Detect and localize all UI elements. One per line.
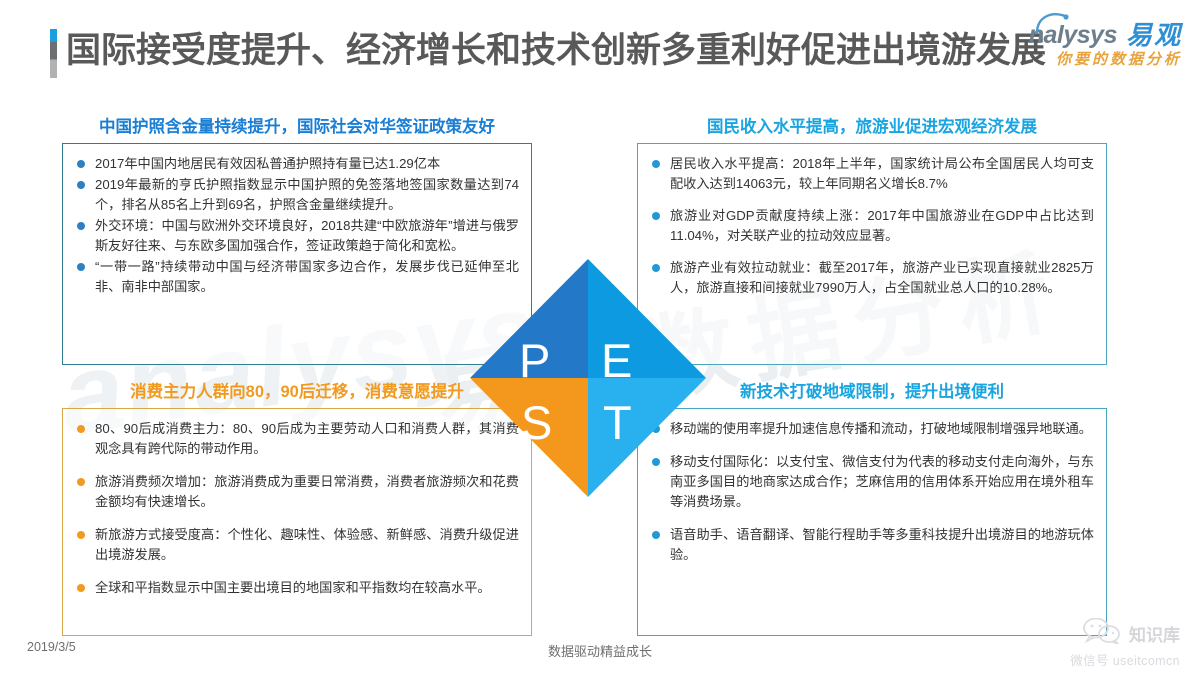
quadrant-political-heading: 中国护照含金量持续提升，国际社会对华签证政策友好 — [62, 113, 532, 137]
list-item: 外交环境：中国与欧洲外交环境良好，2018共建“中欧旅游年”增进与俄罗斯友好往来… — [73, 216, 519, 256]
economic-bullet-list: 居民收入水平提高：2018年上半年，国家统计局公布全国居民人均可支配收入达到14… — [648, 154, 1094, 298]
quadrant-technological-heading: 新技术打破地域限制，提升出境便利 — [637, 378, 1107, 402]
list-item: 居民收入水平提高：2018年上半年，国家统计局公布全国居民人均可支配收入达到14… — [648, 154, 1094, 194]
pest-diamond: P E S T — [470, 259, 706, 497]
quadrant-social-heading: 消费主力人群向80，90后迁移，消费意愿提升 — [62, 378, 532, 402]
quadrant-technological-body: 移动端的使用率提升加速信息传播和流动，打破地域限制增强异地联通。 移动支付国际化… — [637, 408, 1107, 636]
list-item: 移动端的使用率提升加速信息传播和流动，打破地域限制增强异地联通。 — [648, 419, 1094, 439]
logo-chinese-text: 易观 — [1126, 22, 1182, 48]
pest-letter-p: P — [519, 337, 550, 384]
list-item: 2017年中国内地居民有效因私普通护照持有量已达1.29亿本 — [73, 154, 519, 174]
list-item: 旅游消费频次增加：旅游消费成为重要日常消费，消费者旅游频次和花费金额均有快速增长… — [73, 472, 519, 512]
social-bullet-list: 80、90后成消费主力：80、90后成为主要劳动人口和消费人群，其消费观念具有跨… — [73, 419, 519, 598]
page-title: 国际接受度提升、经济增长和技术创新多重利好促进出境游发展 — [66, 22, 1046, 73]
political-bullet-list: 2017年中国内地居民有效因私普通护照持有量已达1.29亿本 2019年最新的亨… — [73, 154, 519, 297]
quadrant-economic-body: 居民收入水平提高：2018年上半年，国家统计局公布全国居民人均可支配收入达到14… — [637, 143, 1107, 365]
list-item: 语音助手、语音翻译、智能行程助手等多重科技提升出境游目的地游玩体验。 — [648, 525, 1094, 565]
quadrant-political: 中国护照含金量持续提升，国际社会对华签证政策友好 2017年中国内地居民有效因私… — [62, 113, 532, 365]
technological-bullet-list: 移动端的使用率提升加速信息传播和流动，打破地域限制增强异地联通。 移动支付国际化… — [648, 419, 1094, 565]
slide-root: analysys 易观数据分析 国际接受度提升、经济增长和技术创新多重利好促进出… — [0, 0, 1200, 675]
footer-tagline: 数据驱动精益成长 — [0, 641, 1200, 660]
quadrant-technological: 新技术打破地域限制，提升出境便利 移动端的使用率提升加速信息传播和流动，打破地域… — [637, 378, 1107, 636]
list-item: 80、90后成消费主力：80、90后成为主要劳动人口和消费人群，其消费观念具有跨… — [73, 419, 519, 459]
list-item: 旅游产业有效拉动就业：截至2017年，旅游产业已实现直接就业2825万人，旅游直… — [648, 258, 1094, 298]
quadrant-social: 消费主力人群向80，90后迁移，消费意愿提升 80、90后成消费主力：80、90… — [62, 378, 532, 636]
pest-letter-s: S — [521, 399, 552, 446]
quadrant-political-body: 2017年中国内地居民有效因私普通护照持有量已达1.29亿本 2019年最新的亨… — [62, 143, 532, 365]
pest-diamond-svg — [470, 259, 706, 497]
pest-letter-t: T — [603, 399, 632, 446]
list-item: 旅游业对GDP贡献度持续上涨：2017年中国旅游业在GDP中占比达到11.04%… — [648, 206, 1094, 246]
list-item: 新旅游方式接受度高：个性化、趣味性、体验感、新鲜感、消费升级促进出境游发展。 — [73, 525, 519, 565]
slide-header: 国际接受度提升、经济增长和技术创新多重利好促进出境游发展 nalysys 易观 … — [0, 0, 1200, 95]
list-item: 移动支付国际化：以支付宝、微信支付为代表的移动支付走向海外，与东南亚多国目的地商… — [648, 452, 1094, 512]
logo-tagline: 你要的数据分析 — [1029, 52, 1182, 67]
list-item: 全球和平指数显示中国主要出境目的地国家和平指数均在较高水平。 — [73, 578, 519, 598]
quadrant-social-body: 80、90后成消费主力：80、90后成为主要劳动人口和消费人群，其消费观念具有跨… — [62, 408, 532, 636]
list-item: 2019年最新的亨氏护照指数显示中国护照的免签落地签国家数量达到74个，排名从8… — [73, 175, 519, 215]
quadrant-economic-heading: 国民收入水平提高，旅游业促进宏观经济发展 — [637, 113, 1107, 137]
logo-arc-icon — [1035, 11, 1069, 39]
pest-letter-e: E — [601, 337, 632, 384]
analysys-logo: nalysys 易观 你要的数据分析 — [1029, 22, 1182, 67]
title-accent-bar — [50, 29, 57, 78]
quadrant-economic: 国民收入水平提高，旅游业促进宏观经济发展 居民收入水平提高：2018年上半年，国… — [637, 113, 1107, 365]
list-item: “一带一路”持续带动中国与经济带国家多边合作，发展步伐已延伸至北非、南非中部国家… — [73, 257, 519, 297]
